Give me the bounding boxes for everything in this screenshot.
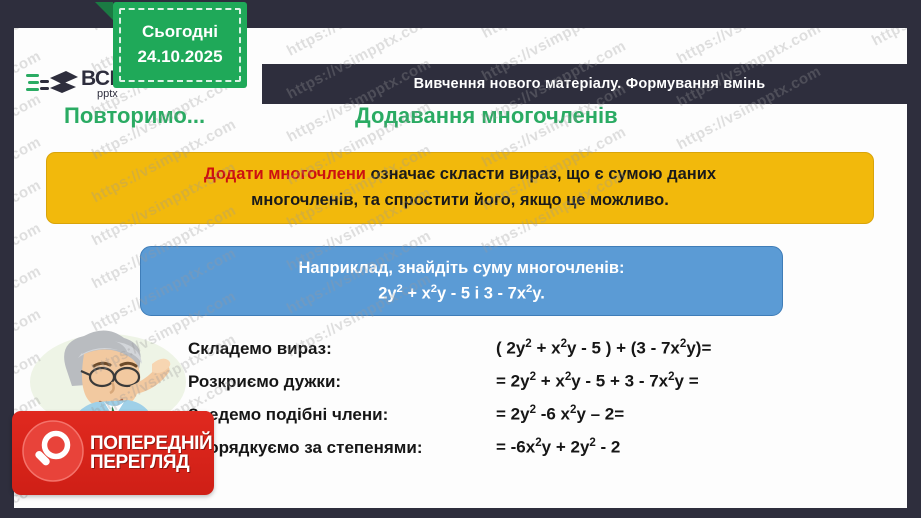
solution-step-1-part-2: + x [536,372,565,391]
solution-step-expression: = 2y2 + x2y - 5 + 3 - 7x2y = [496,371,699,392]
definition-line-2: многочленів, та спростити його, якщо це … [251,188,669,214]
solution-step-label: Розкриємо дужки: [188,372,496,392]
solution-step-0-part-0: ( 2y [496,339,525,358]
lesson-stage-text: Вивчення нового матеріалу. Формування вм… [414,76,766,92]
definition-callout: Додати многочлени означає скласти вираз,… [46,152,874,224]
lesson-stage-banner: Вивчення нового матеріалу. Формування вм… [262,64,907,104]
preview-badge-line-2: ПЕРЕГЛЯД [90,453,212,472]
solution-step-1-part-4: y - 5 + 3 - 7x [571,372,668,391]
solution-step-label: Складемо вираз: [188,339,496,359]
solution-step-2-part-0: = 2y [496,405,530,424]
solution-step-expression: = 2y2 -6 x2y – 2= [496,404,624,425]
example-prompt: Наприклад, знайдіть суму многочленів: [298,256,624,281]
solution-step-1-part-6: y = [675,372,699,391]
solution-step-expression: = -6x2y + 2y2 - 2 [496,437,620,458]
definition-rest: означає скласти вираз, що є сумою даних [366,165,716,183]
solution-step-2-part-4: y – 2= [576,405,624,424]
example-expression-part-0: 2y [378,284,396,302]
solution-step-row: Упорядкуємо за степенями:= -6x2y + 2y2 -… [188,437,888,470]
solution-step-0-part-4: y - 5 ) + (3 - 7x [567,339,680,358]
section-label-review: Повторимо... [64,103,205,129]
solution-step-label: Зведемо подібні члени: [188,405,496,425]
solution-steps: Складемо вираз:( 2y2 + x2y - 5 ) + (3 - … [188,338,888,470]
date-badge-label: Сьогодні [142,20,218,45]
page-title: Додавання многочленів [355,103,618,129]
solution-step-0-part-2: + x [532,339,561,358]
solution-step-row: Розкриємо дужки:= 2y2 + x2y - 5 + 3 - 7x… [188,371,888,404]
date-badge: Сьогодні 24.10.2025 [113,2,247,88]
graduation-cap-icon [26,66,78,102]
solution-step-3-part-0: = -6x [496,438,535,457]
example-expression-part-4: y - 5 і 3 - 7x [437,284,526,302]
preview-badge-text: ПОПЕРЕДНІЙ ПЕРЕГЛЯД [90,434,212,473]
brand-suffix: pptx [97,89,132,99]
slide-root: https://vsimpptx.comhttps://vsimpptx.com… [0,0,921,518]
solution-step-row: Зведемо подібні члени:= 2y2 -6 x2y – 2= [188,404,888,437]
magnifier-icon [22,420,84,487]
solution-step-expression: ( 2y2 + x2y - 5 ) + (3 - 7x2y)= [496,338,711,359]
example-expression-part-2: + x [403,284,431,302]
solution-step-1-part-0: = 2y [496,372,530,391]
definition-highlight: Додати многочлени [204,165,366,183]
solution-step-3-part-2: y + 2y [542,438,590,457]
preview-watermark-badge: ПОПЕРЕДНІЙ ПЕРЕГЛЯД [12,411,214,495]
date-badge-value: 24.10.2025 [137,45,222,70]
solution-step-0-part-6: y)= [686,339,711,358]
example-expression-part-6: y. [532,284,545,302]
solution-step-3-part-4: - 2 [596,438,621,457]
preview-badge-line-1: ПОПЕРЕДНІЙ [90,434,212,453]
solution-step-row: Складемо вираз:( 2y2 + x2y - 5 ) + (3 - … [188,338,888,371]
definition-line-1: Додати многочлени означає скласти вираз,… [204,162,716,188]
solution-step-2-part-2: -6 x [536,405,570,424]
example-expression: 2y2 + x2y - 5 і 3 - 7x2y. [378,281,545,306]
example-callout: Наприклад, знайдіть суму многочленів: 2y… [140,246,783,316]
solution-step-label: Упорядкуємо за степенями: [188,438,496,458]
